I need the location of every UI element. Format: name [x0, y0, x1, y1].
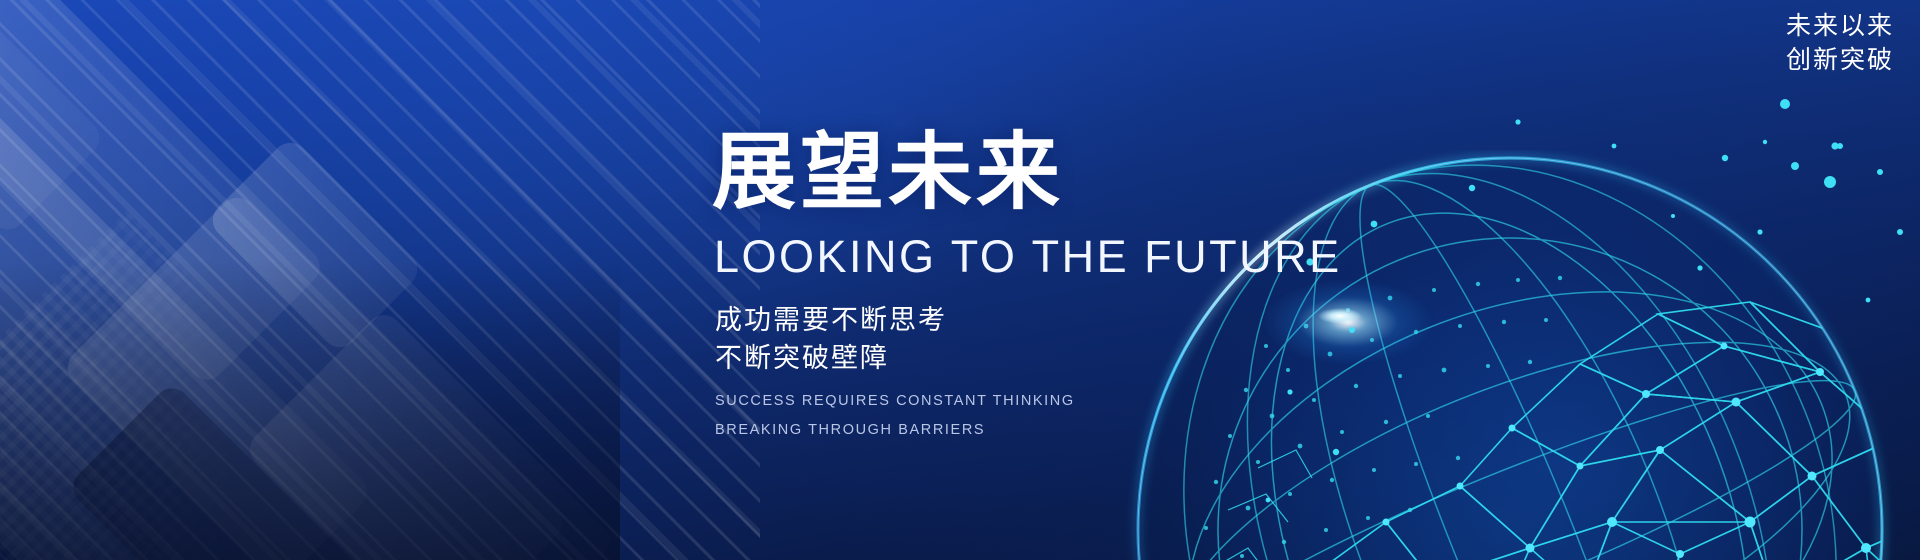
headline-block: 展望未来 LOOKING TO THE FUTURE 成功需要不断思考 不断突破…	[712, 130, 1412, 444]
decor-slab-f	[0, 0, 107, 237]
bottom-left-vignette	[0, 260, 620, 560]
corner-tagline: 未来以来 创新突破	[1786, 10, 1894, 78]
subtitle-en-line2: BREAKING THROUGH BARRIERS	[715, 416, 1412, 444]
subtitle-cn-line1: 成功需要不断思考	[715, 301, 1412, 339]
subtitle-english: SUCCESS REQUIRES CONSTANT THINKING BREAK…	[715, 387, 1412, 444]
decor-slab-c	[60, 190, 569, 560]
subtitle-en-line1: SUCCESS REQUIRES CONSTANT THINKING	[715, 387, 1412, 415]
decor-slab-dark	[66, 381, 384, 560]
diagonal-hairline-stripes	[0, 0, 760, 560]
diagonal-wide-stripes	[0, 0, 760, 560]
corner-tagline-line1: 未来以来	[1786, 10, 1894, 44]
page-title: 展望未来	[712, 130, 1412, 216]
page-title-english: LOOKING TO THE FUTURE	[714, 230, 1412, 283]
decor-slab-b	[0, 96, 374, 560]
left-geometric-decoration	[0, 0, 760, 560]
hero-banner: 未来以来 创新突破 展望未来 LOOKING TO THE FUTURE 成功需…	[0, 0, 1920, 560]
checker-dot-matrix	[0, 210, 410, 560]
corner-tagline-line2: 创新突破	[1786, 44, 1894, 78]
subtitle-cn-line2: 不断突破壁障	[715, 339, 1412, 377]
subtitle-chinese: 成功需要不断思考 不断突破壁障	[715, 301, 1412, 378]
decor-slab-a	[0, 0, 327, 387]
decor-slab-e	[243, 308, 618, 560]
decor-slab-d	[205, 135, 424, 354]
